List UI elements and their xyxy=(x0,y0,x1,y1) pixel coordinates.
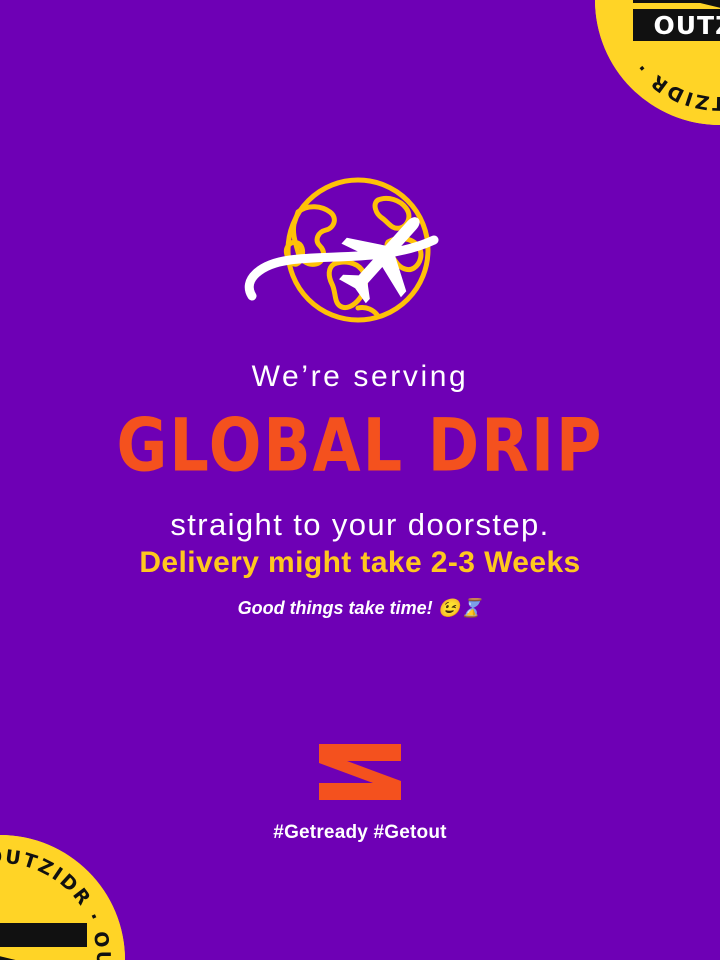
globe-airplane-icon xyxy=(238,168,482,344)
delivery-subtext: Good things take time! 😉⌛ xyxy=(0,599,720,617)
poster-canvas: OUTZIDR · OUTZIDR · OUTZIDR · OUTZIDR · … xyxy=(0,0,720,960)
brand-seal-bottom-left: OUTZIDR · OUTZIDR · OUTZIDR · OUTZIDR · … xyxy=(0,835,125,960)
headline-eyebrow: We’re serving xyxy=(0,362,720,392)
outzidr-z-logomark xyxy=(319,744,401,800)
headline-subhead: straight to your doorstep. xyxy=(0,509,720,540)
delivery-notice: Delivery might take 2-3 Weeks Good thing… xyxy=(0,548,720,617)
brand-seal-top-right: OUTZIDR · OUTZIDR · OUTZIDR · OUTZIDR · … xyxy=(595,0,720,125)
headline-block: We’re serving GLOBAL DRIP straight to yo… xyxy=(0,362,720,540)
page-title: GLOBAL DRIP xyxy=(0,409,720,482)
delivery-headline: Delivery might take 2-3 Weeks xyxy=(0,548,720,578)
seal-wordmark: OUTZIDR xyxy=(653,11,720,40)
brand-footer: #Getready #Getout xyxy=(0,744,720,842)
